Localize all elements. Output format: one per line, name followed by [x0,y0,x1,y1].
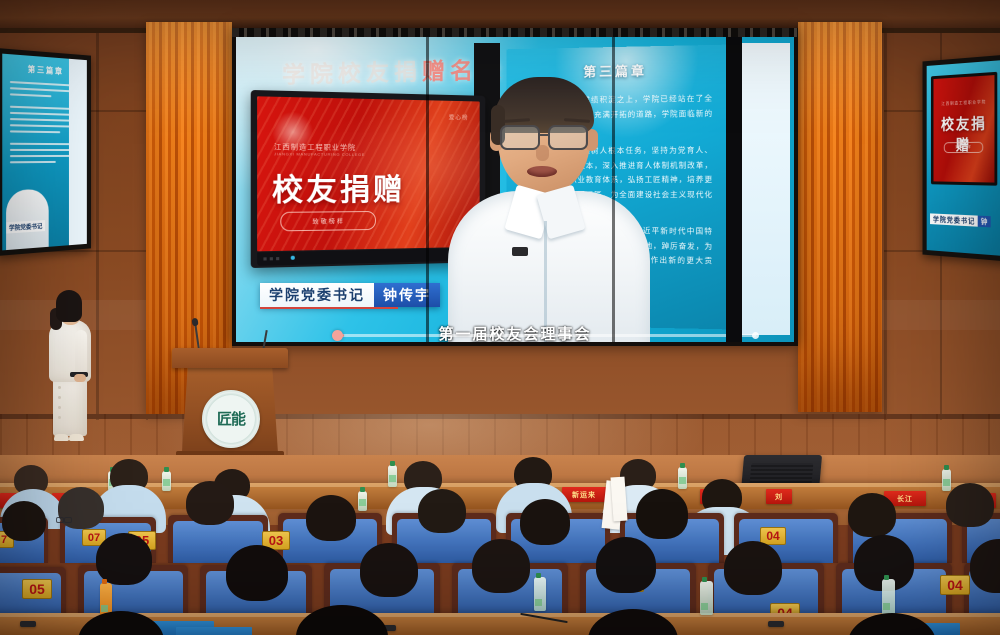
audience-glasses [56,517,72,521]
led-panel-seam [426,37,429,342]
audience-head [472,539,530,593]
side-display-right[interactable]: 江西制造工程职业学院 校友捐赠 致敬榜样 学院党委书记 钟 [922,54,1000,261]
name-card: 新运来 [562,487,606,502]
side-right-caption-name: 钟 [978,216,991,228]
wall-seam [884,0,887,420]
water-bottle [162,471,171,491]
led-panel-seam [612,37,615,342]
water-bottle [700,581,713,615]
audience-head [724,541,782,595]
name-card: 刘 [766,489,792,504]
video-progress-end-marker[interactable] [752,332,759,339]
video-progress-handle[interactable] [332,330,343,341]
smartphone-on-desk [20,621,36,627]
water-bottle [534,577,546,611]
water-bottle [942,469,951,491]
audience-head [418,489,466,533]
audience-head [96,533,152,585]
water-bottle [388,465,397,487]
led-panel-dark-strip [726,37,742,342]
caption-underline [260,307,398,309]
audience-head [306,495,356,541]
smartphone-on-desk [768,621,784,627]
audience-head [946,483,994,527]
audience-head [636,489,688,539]
side-right-institution: 江西制造工程职业学院 [934,99,995,108]
seat-number-plate: 05 [22,579,52,599]
presenter-figure [454,71,644,342]
podium-emblem-text: 匠能 [217,412,245,427]
audience-head [520,499,570,545]
document-paper [610,477,627,522]
desk-edge [0,483,1000,487]
video-progress-bar[interactable] [336,334,756,337]
water-bottle [678,467,687,489]
inner-monitor-headline: 校友捐赠 [272,165,406,210]
video-subtitle: 第一届校友会理事会 [236,323,794,342]
auditorium-scene: 学院校友捐赠名录 第三篇章 在学院发展的成绩积淀之上，学院已经站在了全新的历史起… [0,0,1000,635]
video-title-dim: 学院校友捐 [282,59,422,88]
presenter-glasses [498,125,590,147]
main-led-video-wall[interactable]: 学院校友捐赠名录 第三篇章 在学院发展的成绩积淀之上，学院已经站在了全新的历史起… [232,28,798,346]
podium-emblem: 匠能 [202,390,260,448]
wall-seam [96,0,99,420]
water-bottle [882,579,895,615]
audience-head [596,537,656,593]
audience-head [2,501,46,541]
led-mount-rail [232,28,798,37]
stage-curtain-right [798,22,882,412]
host-presenter-standing [44,290,96,450]
booklet-on-desk [176,627,252,635]
audience-head [186,481,234,525]
side-right-badge: 致敬榜样 [944,142,983,153]
presenter-lapel-mic [512,247,528,256]
water-bottle [358,491,367,511]
audience-head [360,543,418,597]
inner-monitor-institution-en: JIANGXI MANUFACTURING COLLEGE [274,151,365,157]
main-screen-content: 学院校友捐赠名录 第三篇章 在学院发展的成绩积淀之上，学院已经站在了全新的历史起… [236,37,794,342]
wall-panel-white [742,43,790,335]
inner-monitor-badge: 致敬榜样 [280,211,376,231]
lower-third-caption: 学院党委书记 钟传宇 [260,283,440,307]
side-right-red-panel: 江西制造工程职业学院 校友捐赠 致敬榜样 [931,72,997,185]
side-display-left[interactable]: 第三篇章 学院党委书记 [0,48,91,256]
desk-edge [0,613,1000,617]
caption-name: 钟传宇 [374,283,440,307]
caption-role: 学院党委书记 [260,283,374,307]
seat-number-plate: 04 [940,575,970,595]
audience-head [848,493,896,537]
audience-seating: 新运来 金 刘 长江 惠成 [0,455,1000,635]
podium[interactable]: 匠能 [176,348,284,460]
audience-head [226,545,288,601]
